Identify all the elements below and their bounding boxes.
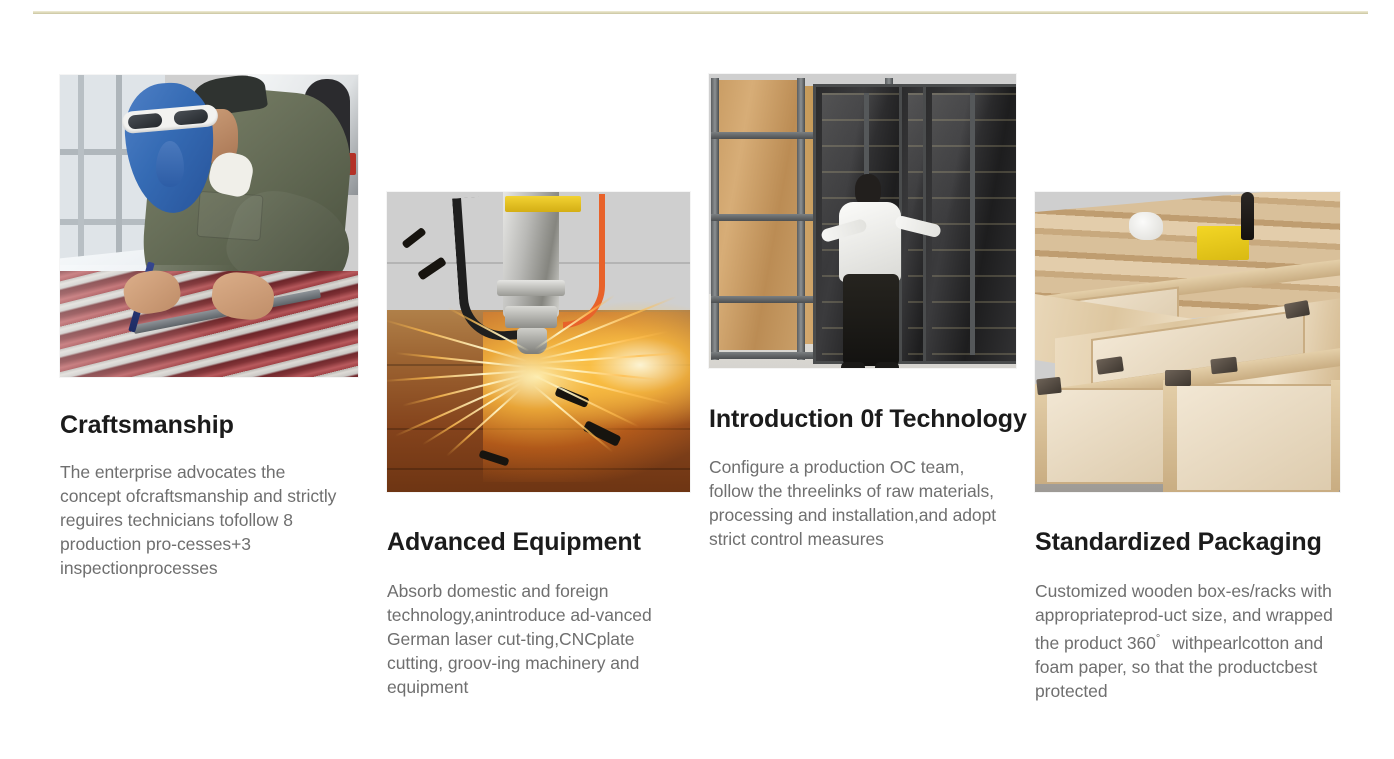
- equipment-handle: [1241, 192, 1254, 240]
- feature-card-technology: Introduction 0f Technology Configure a p…: [709, 74, 1019, 551]
- crate-stile-right: [1331, 380, 1340, 490]
- photo-scene: [387, 192, 690, 492]
- crate-face-right: [1175, 384, 1339, 492]
- card-body-technology: Configure a production OC team, follow t…: [709, 455, 1009, 551]
- degree-symbol: °: [1156, 633, 1160, 645]
- cabinet-mullion-right: [970, 93, 975, 355]
- slag-piece-1: [401, 227, 426, 249]
- worker-jacket-pocket: [196, 191, 263, 241]
- card-heading-equipment: Advanced Equipment: [387, 527, 692, 557]
- corner-bracket-3: [1165, 370, 1191, 386]
- person-shoe-left: [841, 362, 865, 368]
- goggles-lens-right: [173, 109, 208, 126]
- worker-marking-rebar-photo: [60, 75, 358, 377]
- photo-scene: [60, 75, 358, 377]
- crate-face-left: [1043, 388, 1173, 484]
- goggles-lens-left: [128, 113, 163, 130]
- person-trousers: [843, 274, 899, 366]
- mask-nose-ridge: [156, 141, 184, 187]
- person-shirt: [839, 202, 901, 282]
- card-body-packaging: Customized wooden box-es/racks with appr…: [1035, 579, 1335, 703]
- crate-stile-left: [1035, 384, 1047, 484]
- orange-hose: [563, 194, 605, 328]
- card-heading-craftsmanship: Craftsmanship: [60, 410, 360, 440]
- showroom-door-display-photo: [709, 74, 1016, 368]
- laser-cutting-sparks-photo: [387, 192, 690, 492]
- photo-scene: [1035, 192, 1340, 492]
- laser-head-ring-upper: [497, 280, 565, 296]
- card-heading-packaging: Standardized Packaging: [1035, 527, 1340, 557]
- feature-card-equipment: Advanced Equipment Absorb domestic and f…: [387, 192, 692, 699]
- top-divider-rule: [33, 11, 1368, 14]
- rebar-highlight: [60, 265, 358, 377]
- slag-piece-2: [417, 256, 447, 280]
- feature-card-craftsmanship: Craftsmanship The enterprise advocates t…: [60, 75, 360, 580]
- person-shoe-right: [875, 362, 899, 368]
- photo-scene: [709, 74, 1016, 368]
- card-heading-technology: Introduction 0f Technology: [709, 404, 1019, 434]
- card-body-craftsmanship: The enterprise advocates the concept ofc…: [60, 460, 350, 580]
- laser-head-ring-lower: [505, 306, 557, 328]
- corner-bracket-5: [1210, 357, 1237, 375]
- crate-stile-center: [1163, 380, 1177, 492]
- white-plastic-bag: [1129, 212, 1163, 240]
- laser-head-label: [505, 196, 581, 212]
- corner-bracket-1: [1036, 377, 1062, 395]
- wooden-crates-photo: [1035, 192, 1340, 492]
- card-body-equipment: Absorb domestic and foreign technology,a…: [387, 579, 685, 699]
- feature-card-packaging: Standardized Packaging Customized wooden…: [1035, 192, 1340, 703]
